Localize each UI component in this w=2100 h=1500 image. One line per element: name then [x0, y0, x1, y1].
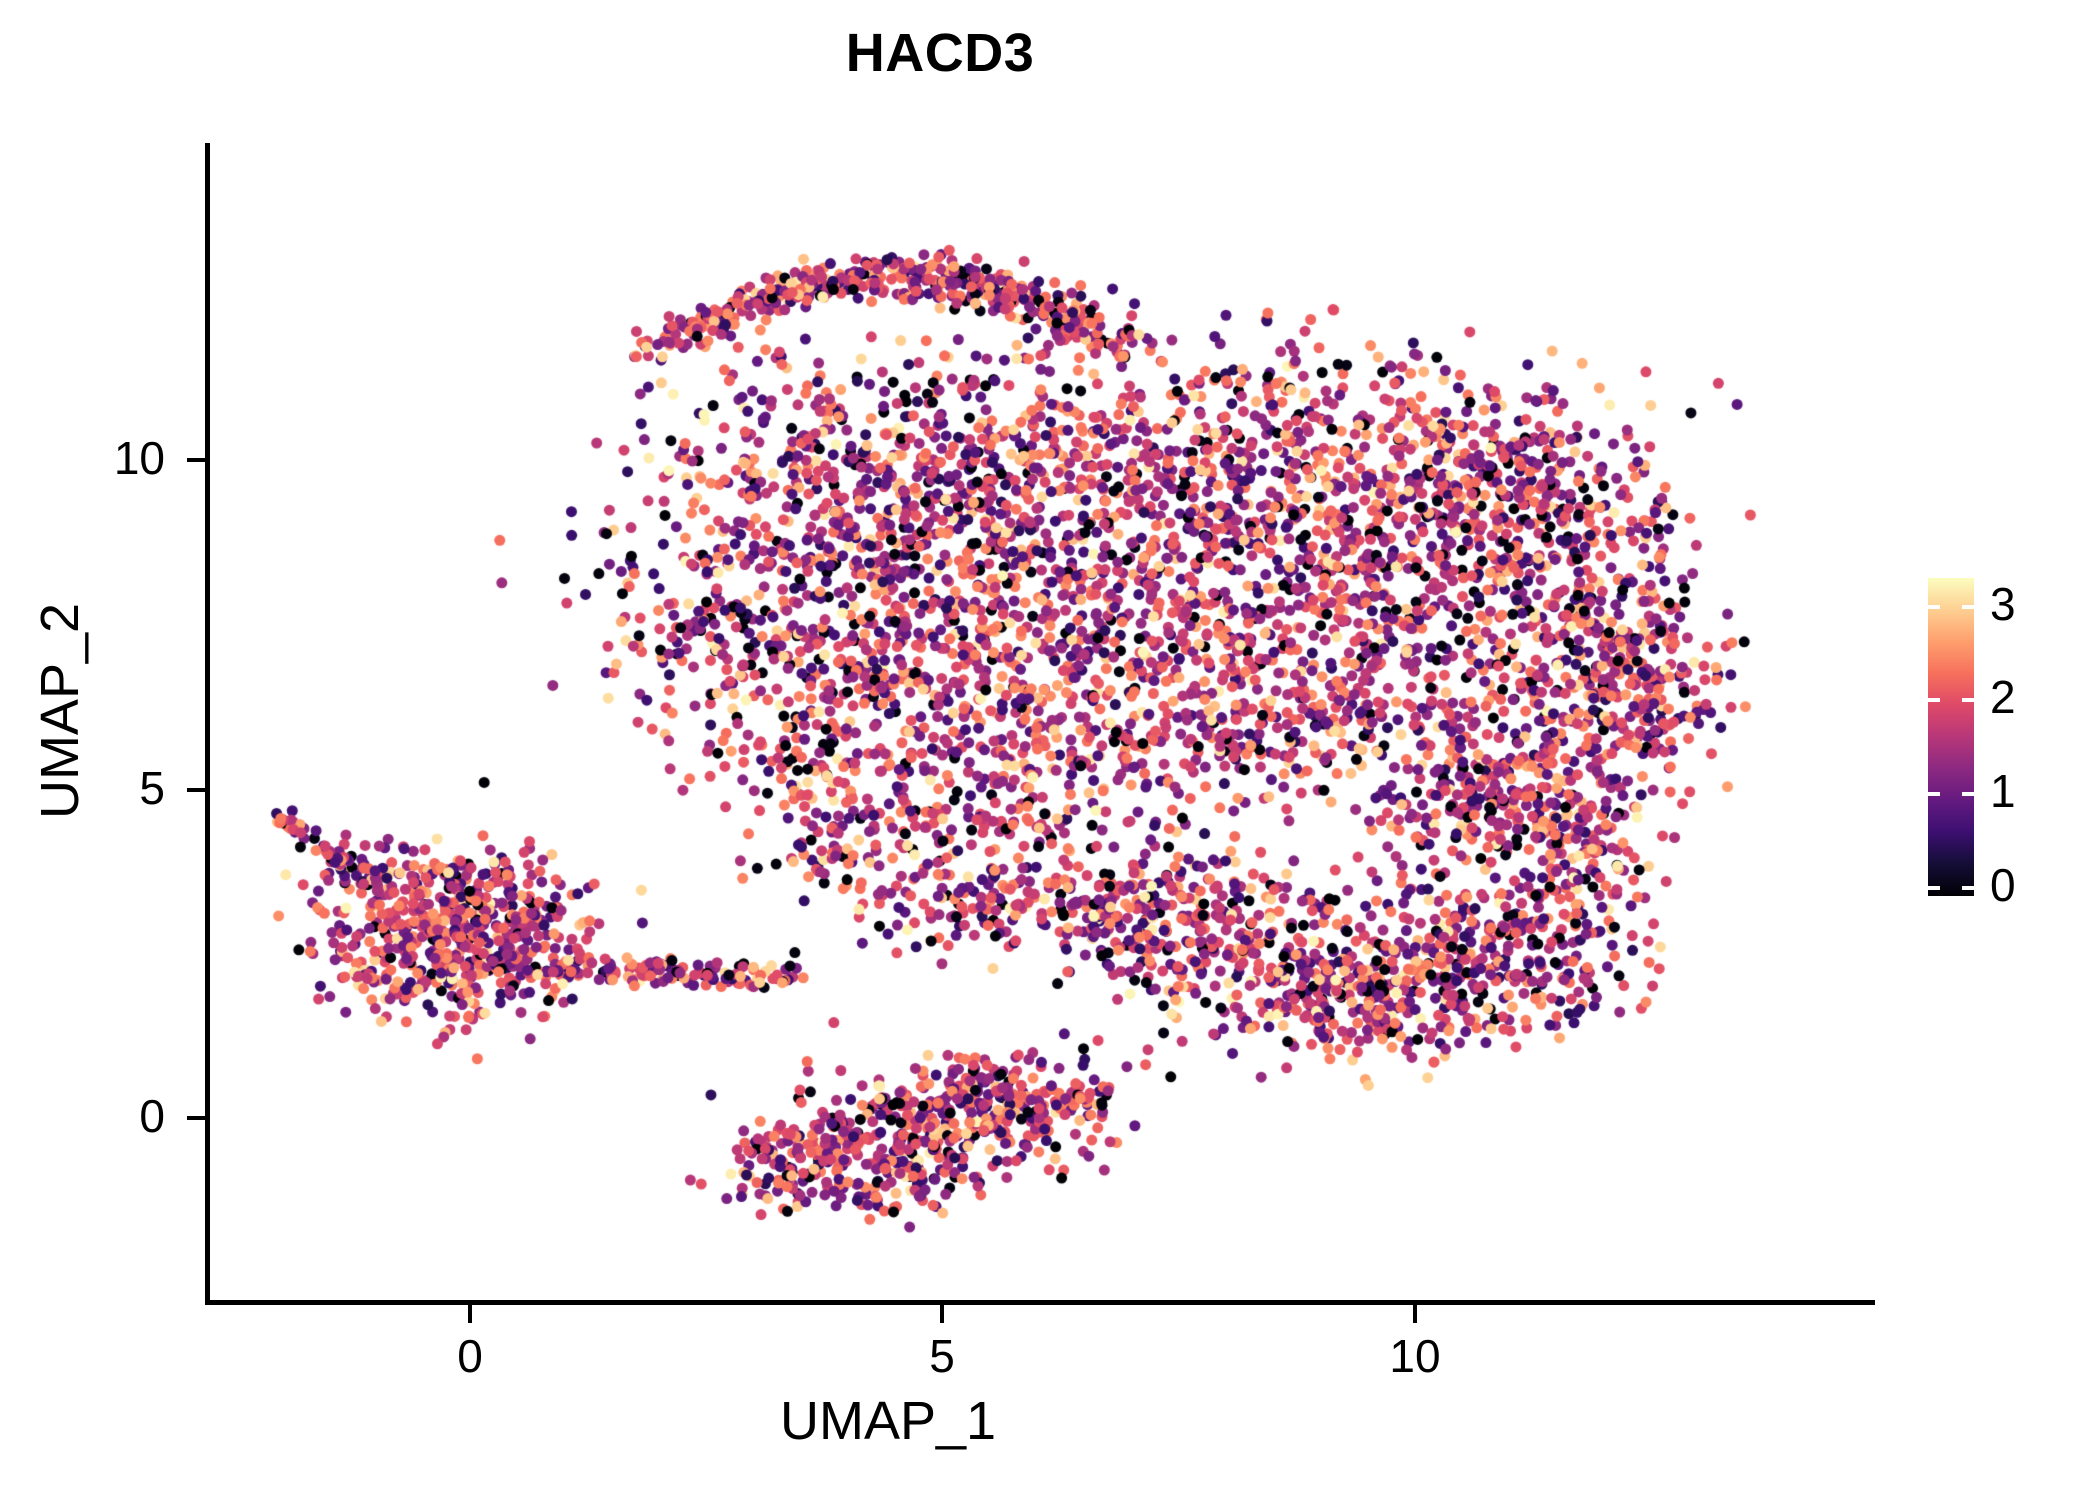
colorbar-tick-2-left: [1928, 698, 1940, 702]
colorbar-label-0: 0: [1990, 862, 2016, 908]
scatter-plot-canvas: [0, 0, 2100, 1500]
x-tick-label-0: 0: [390, 1333, 550, 1379]
colorbar-tick-2-right: [1962, 698, 1974, 702]
colorbar-gradient: [1928, 578, 1974, 896]
colorbar-tick-1-right: [1962, 792, 1974, 796]
x-tick-mark-0: [468, 1305, 472, 1323]
x-tick-mark-10: [1413, 1305, 1417, 1323]
y-tick-label-0: 0: [5, 1093, 165, 1139]
y-axis-title: UMAP_2: [29, 411, 91, 1011]
x-tick-label-10: 10: [1335, 1333, 1495, 1379]
colorbar-tick-1-left: [1928, 792, 1940, 796]
y-axis-line: [205, 143, 210, 1304]
colorbar-legend: 3 2 1 0: [1928, 578, 2078, 898]
x-axis-title: UMAP_1: [780, 1390, 996, 1452]
x-tick-mark-5: [940, 1305, 944, 1323]
colorbar-label-3: 3: [1990, 581, 2016, 627]
y-tick-mark-5: [187, 788, 205, 792]
y-tick-mark-10: [187, 458, 205, 462]
x-axis-line: [205, 1300, 1875, 1305]
page-title: HACD3: [0, 22, 1880, 84]
colorbar-tick-3-right: [1962, 605, 1974, 609]
colorbar-tick-0-left: [1928, 886, 1940, 890]
colorbar-label-2: 2: [1990, 674, 2016, 720]
colorbar-label-1: 1: [1990, 768, 2016, 814]
colorbar-tick-0-right: [1962, 886, 1974, 890]
feature-plot-page: HACD3 10 5 0 0 5 10 UMAP_1 UMAP_2 3 2 1 …: [0, 0, 2100, 1500]
x-tick-label-5: 5: [862, 1333, 1022, 1379]
y-tick-mark-0: [187, 1116, 205, 1120]
colorbar-tick-3-left: [1928, 605, 1940, 609]
